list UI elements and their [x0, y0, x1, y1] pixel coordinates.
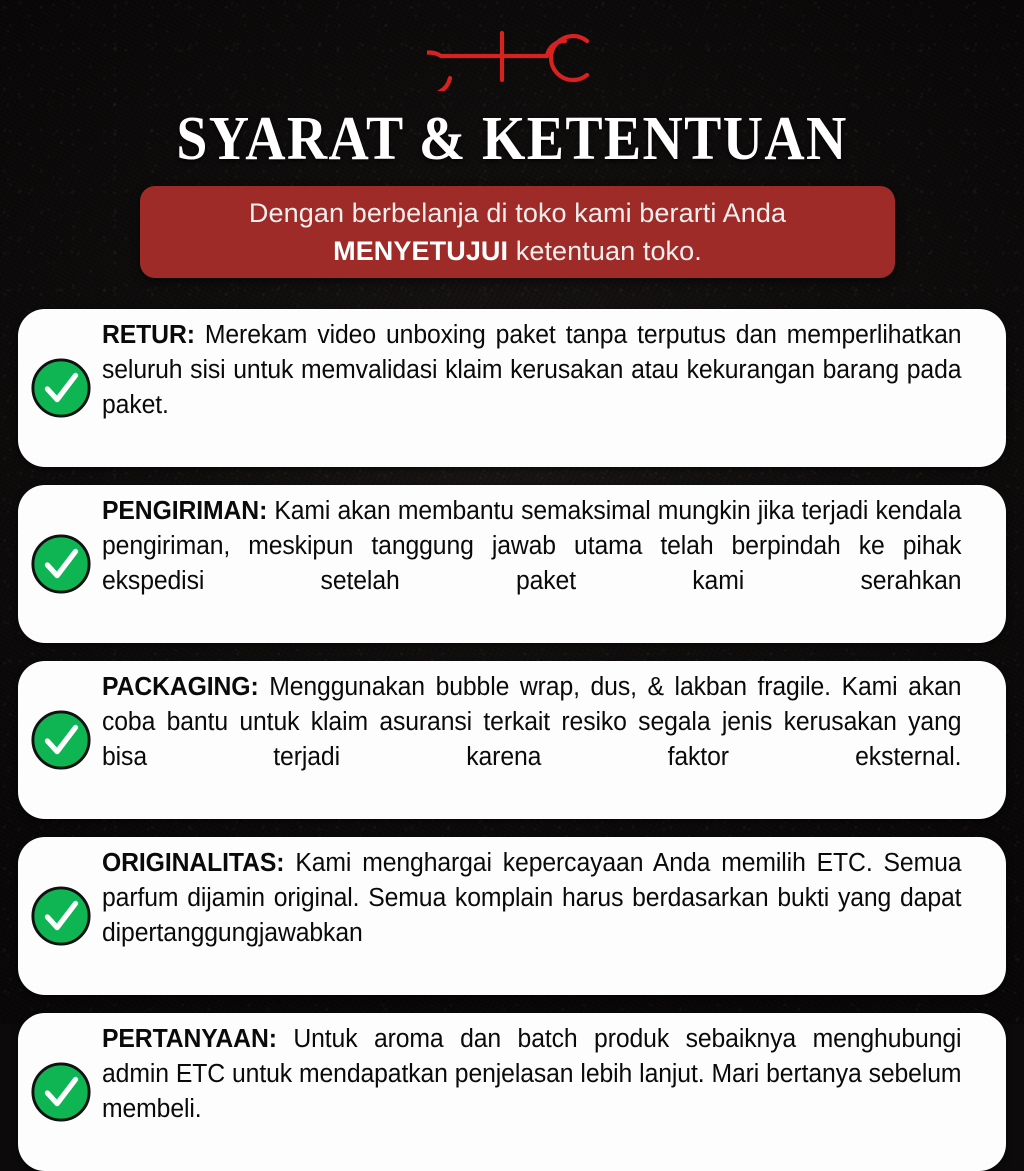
term-card-packaging: PACKAGING: Menggunakan bubble wrap, dus,… — [18, 661, 1006, 819]
agreement-emphasis: MENYETUJUI — [333, 236, 508, 266]
check-circle-icon — [30, 533, 92, 595]
term-card-retur: RETUR: Merekam video unboxing paket tanp… — [18, 309, 1006, 467]
term-label: RETUR: — [102, 321, 195, 349]
term-text: RETUR: Merekam video unboxing paket tanp… — [102, 318, 961, 458]
check-circle-icon — [30, 357, 92, 419]
check-circle-icon — [30, 885, 92, 947]
term-label: PACKAGING: — [102, 673, 259, 701]
agreement-banner-line-1: Dengan berbelanja di toko kami berarti A… — [249, 194, 786, 232]
term-card-originalitas: ORIGINALITAS: Kami menghargai kepercayaa… — [18, 837, 1006, 995]
term-text: PERTANYAAN: Untuk aroma dan batch produk… — [102, 1022, 961, 1162]
check-circle-icon — [30, 1061, 92, 1123]
terms-list: RETUR: Merekam video unboxing paket tanp… — [18, 309, 1006, 1171]
term-body: Merekam video unboxing paket tanpa terpu… — [102, 321, 961, 419]
term-label: PERTANYAAN: — [102, 1025, 277, 1053]
term-text: PACKAGING: Menggunakan bubble wrap, dus,… — [102, 670, 961, 810]
terms-and-conditions-poster: SYARAT & KETENTUAN Dengan berbelanja di … — [0, 0, 1024, 1024]
agreement-banner-line-2: MENYETUJUI ketentuan toko. — [333, 232, 702, 270]
etc-monogram-logo — [427, 23, 597, 91]
term-text: PENGIRIMAN: Kami akan membantu semaksima… — [102, 494, 961, 634]
term-card-pengiriman: PENGIRIMAN: Kami akan membantu semaksima… — [18, 485, 1006, 643]
term-card-pertanyaan: PERTANYAAN: Untuk aroma dan batch produk… — [18, 1013, 1006, 1171]
term-label: ORIGINALITAS: — [102, 849, 284, 877]
agreement-banner: Dengan berbelanja di toko kami berarti A… — [140, 186, 895, 278]
agreement-line-2-rest: ketentuan toko. — [508, 236, 702, 266]
page-title: SYARAT & KETENTUAN — [51, 104, 973, 174]
brand-logo — [0, 18, 1024, 96]
check-circle-icon — [30, 709, 92, 771]
term-label: PENGIRIMAN: — [102, 497, 267, 525]
term-text: ORIGINALITAS: Kami menghargai kepercayaa… — [102, 846, 961, 986]
